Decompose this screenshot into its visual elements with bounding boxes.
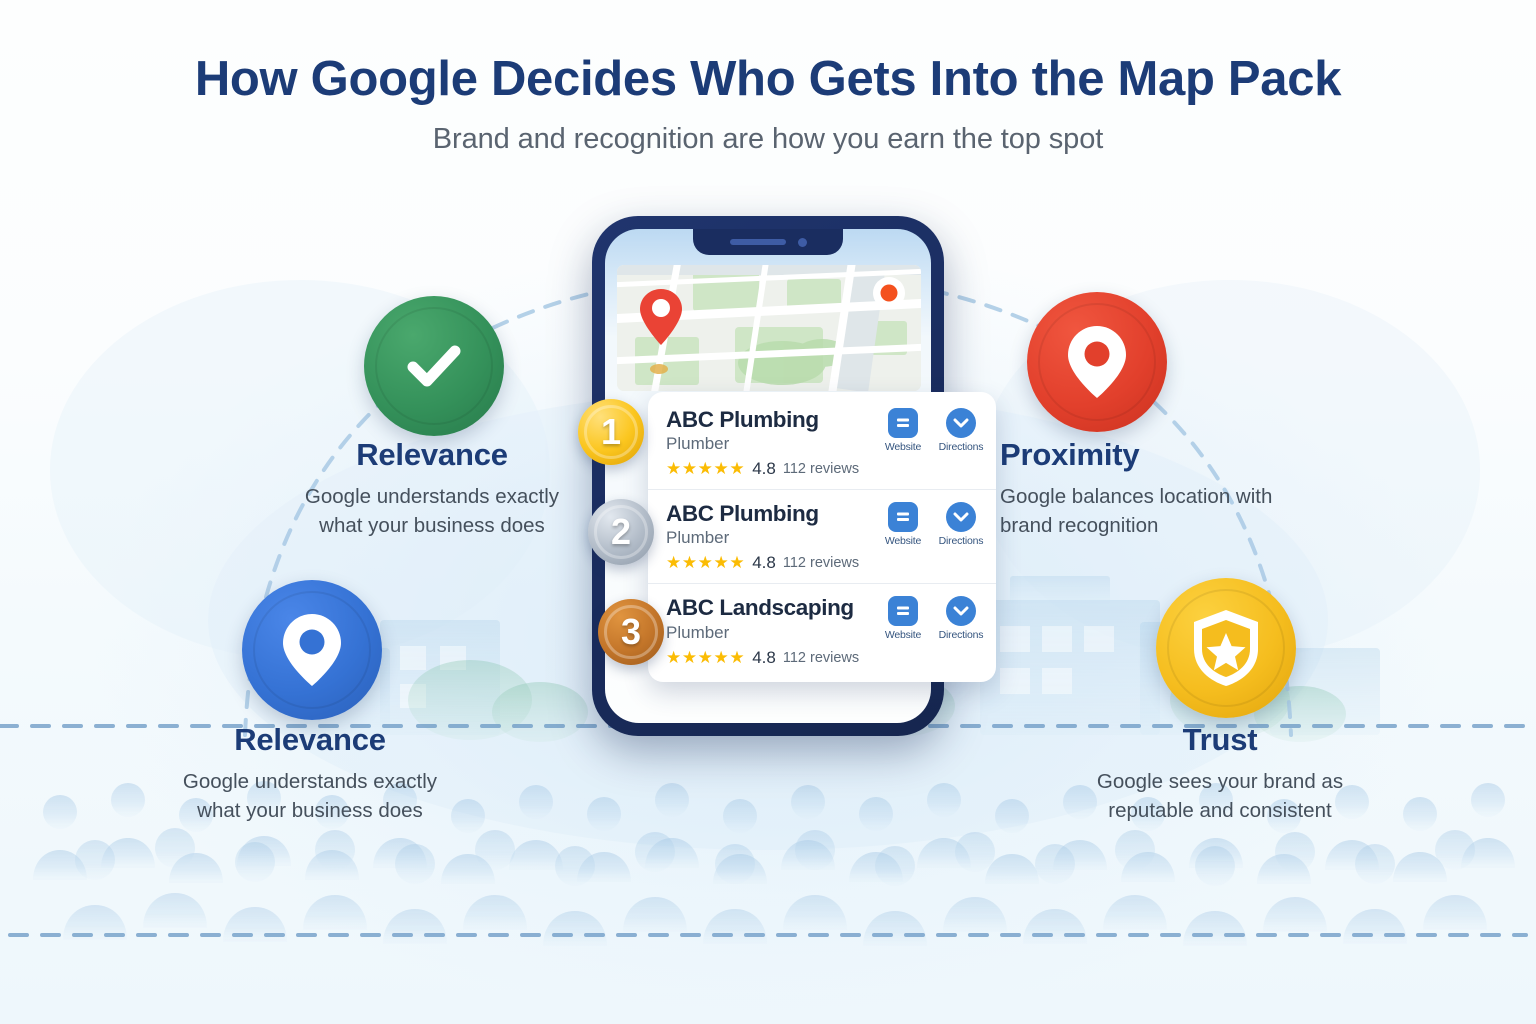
star-rating-icon: ★★★★★ [666,459,745,479]
pillar-description: Google understands exactly what your bus… [160,767,460,825]
result-actions: Website Directions [880,502,984,547]
locate-dot-icon [873,277,905,309]
header: How Google Decides Who Gets Into the Map… [0,52,1536,156]
website-label: Website [880,629,926,641]
website-icon [888,408,918,438]
rating-row: ★★★★★ 4.8 112 reviews [666,648,982,668]
directions-label: Directions [938,441,984,453]
directions-icon [946,596,976,626]
directions-button[interactable]: Directions [938,502,984,547]
directions-label: Directions [938,629,984,641]
rating-value: 4.8 [752,553,776,573]
map-pin-icon [1027,292,1167,432]
website-label: Website [880,535,926,547]
phone-notch [693,229,843,255]
check-circle-icon [364,296,504,436]
pillar-heading: Trust [1070,722,1370,758]
pillar-heading: Proximity [1000,437,1300,473]
star-rating-icon: ★★★★★ [666,648,745,668]
rating-value: 4.8 [752,459,776,479]
rank-medal-gold: 1 [578,399,644,465]
directions-label: Directions [938,535,984,547]
pillar-heading: Relevance [282,437,582,473]
list-item[interactable]: ABC Plumbing Plumber ★★★★★ 4.8 112 revie… [648,396,996,489]
rating-row: ★★★★★ 4.8 112 reviews [666,553,982,573]
page-title: How Google Decides Who Gets Into the Map… [0,52,1536,107]
directions-icon [946,408,976,438]
pillar-relevance-top: Relevance Google understands exactly wha… [282,437,582,540]
directions-button[interactable]: Directions [938,408,984,453]
rating-row: ★★★★★ 4.8 112 reviews [666,459,982,479]
website-button[interactable]: Website [880,408,926,453]
infographic-canvas: How Google Decides Who Gets Into the Map… [0,0,1536,1024]
website-icon [888,596,918,626]
rating-value: 4.8 [752,648,776,668]
rank-medal-bronze: 3 [598,599,664,665]
website-button[interactable]: Website [880,596,926,641]
result-actions: Website Directions [880,408,984,453]
map-pin-icon [242,580,382,720]
star-rating-icon: ★★★★★ [666,553,745,573]
result-actions: Website Directions [880,596,984,641]
list-item[interactable]: ABC Plumbing Plumber ★★★★★ 4.8 112 revie… [648,489,996,583]
website-label: Website [880,441,926,453]
rank-medal-silver: 2 [588,499,654,565]
shield-star-icon [1156,578,1296,718]
pillar-relevance-bottom: Relevance Google understands exactly wha… [160,722,460,825]
speaker-grille [730,239,786,245]
pillar-description: Google balances location with brand reco… [1000,482,1300,540]
review-count: 112 reviews [783,555,859,571]
website-icon [888,502,918,532]
page-subtitle: Brand and recognition are how you earn t… [0,123,1536,156]
pillar-proximity: Proximity Google balances location with … [1000,437,1300,540]
website-button[interactable]: Website [880,502,926,547]
front-camera [798,238,807,247]
pillar-trust: Trust Google sees your brand as reputabl… [1070,722,1370,825]
directions-button[interactable]: Directions [938,596,984,641]
review-count: 112 reviews [783,650,859,666]
pillar-heading: Relevance [160,722,460,758]
map-view[interactable] [617,265,921,391]
list-item[interactable]: ABC Landscaping Plumber ★★★★★ 4.8 112 re… [648,583,996,677]
map-pack-results: ABC Plumbing Plumber ★★★★★ 4.8 112 revie… [648,392,996,682]
review-count: 112 reviews [783,461,859,477]
directions-icon [946,502,976,532]
pillar-description: Google sees your brand as reputable and … [1070,767,1370,825]
pillar-description: Google understands exactly what your bus… [282,482,582,540]
